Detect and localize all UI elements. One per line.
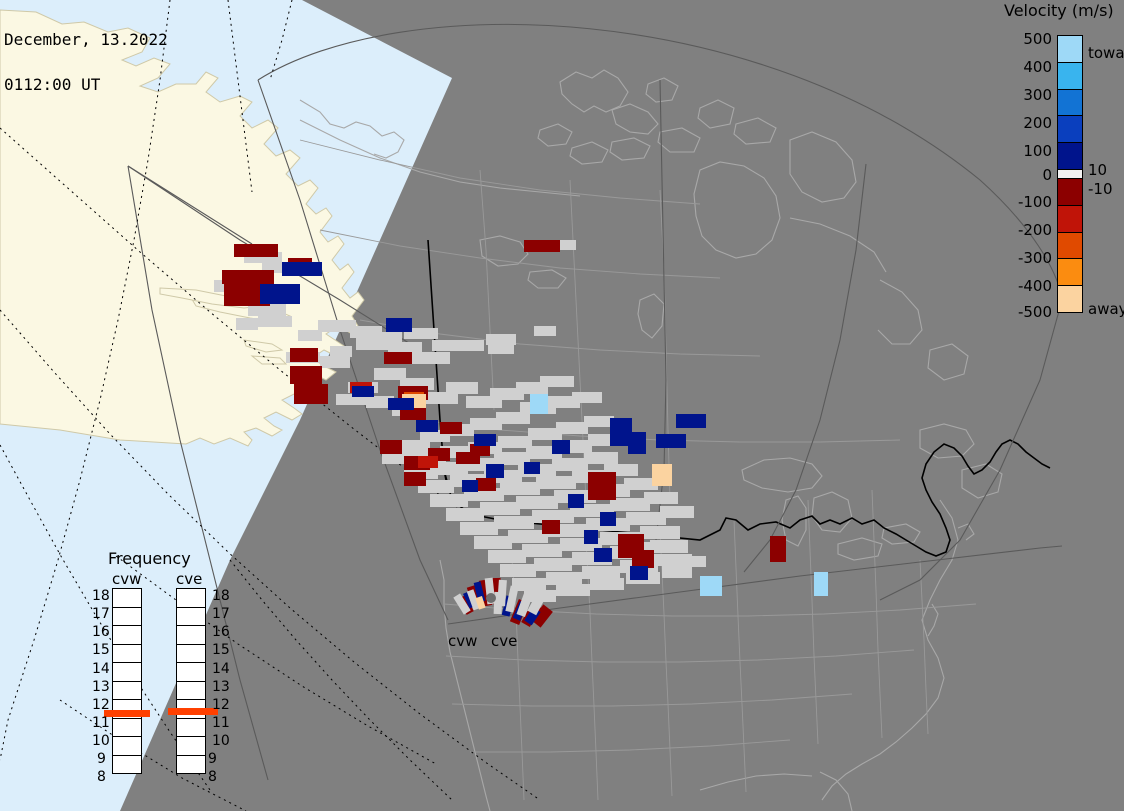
frequency-scale-label: 18 bbox=[92, 588, 110, 604]
colorbar-tick: 200 bbox=[996, 114, 1052, 132]
frequency-cell bbox=[177, 682, 205, 701]
frequency-marker-cvw bbox=[104, 710, 150, 717]
frequency-scale-label: 15 bbox=[212, 642, 230, 658]
colorbar-segment bbox=[1058, 36, 1082, 63]
velocity-cells-layer bbox=[0, 0, 1124, 811]
frequency-marker-cve bbox=[168, 708, 218, 715]
frequency-cell bbox=[177, 719, 205, 738]
colorbar-positive-threshold-label: 10 bbox=[1088, 161, 1107, 179]
colorbar-tick: 100 bbox=[996, 142, 1052, 160]
frequency-scale-label: 8 bbox=[208, 769, 217, 785]
frequency-cell bbox=[177, 589, 205, 608]
frequency-bar-header-cve: cve bbox=[176, 570, 202, 588]
colorbar-tick: 400 bbox=[996, 58, 1052, 76]
frequency-scale-label: 11 bbox=[92, 715, 110, 731]
frequency-cell bbox=[113, 608, 141, 627]
colorbar-segment bbox=[1058, 179, 1082, 206]
colorbar-segment bbox=[1058, 143, 1082, 170]
frequency-cell bbox=[177, 645, 205, 664]
frequency-cell bbox=[113, 756, 141, 774]
frequency-scale-label: 16 bbox=[92, 624, 110, 640]
frequency-scale-label: 11 bbox=[212, 715, 230, 731]
velocity-colorbar bbox=[1057, 35, 1083, 313]
colorbar-segment bbox=[1058, 63, 1082, 90]
frequency-cell bbox=[113, 663, 141, 682]
colorbar-segment-zero bbox=[1058, 170, 1082, 179]
frequency-scale-label: 13 bbox=[92, 679, 110, 695]
colorbar-tick: -200 bbox=[996, 221, 1052, 239]
frequency-cell bbox=[177, 626, 205, 645]
frequency-cell bbox=[177, 756, 205, 774]
colorbar-segment bbox=[1058, 116, 1082, 143]
timestamp-date: December, 13.2022 bbox=[4, 32, 168, 47]
frequency-scale-label: 9 bbox=[97, 751, 106, 767]
colorbar-tick: 500 bbox=[996, 30, 1052, 48]
frequency-cell bbox=[113, 645, 141, 664]
frequency-legend-title: Frequency bbox=[108, 549, 191, 568]
frequency-cell bbox=[177, 608, 205, 627]
colorbar-tick: -100 bbox=[996, 193, 1052, 211]
colorbar-away-label: away bbox=[1088, 300, 1124, 318]
colorbar-tick: 300 bbox=[996, 86, 1052, 104]
frequency-scale-label: 15 bbox=[92, 642, 110, 658]
frequency-scale-label: 17 bbox=[92, 606, 110, 622]
colorbar-tick: -400 bbox=[996, 277, 1052, 295]
timestamp-time: 0112:00 UT bbox=[4, 77, 168, 92]
frequency-cell bbox=[113, 589, 141, 608]
frequency-scale-label: 16 bbox=[212, 624, 230, 640]
colorbar-title: Velocity (m/s) bbox=[1004, 1, 1114, 20]
frequency-scale-label: 17 bbox=[212, 606, 230, 622]
colorbar-tick: 0 bbox=[996, 166, 1052, 184]
colorbar-segment bbox=[1058, 90, 1082, 117]
colorbar-toward-label: toward bbox=[1088, 44, 1124, 62]
frequency-scale-label: 14 bbox=[92, 661, 110, 677]
site-label-cvw: cvw bbox=[448, 632, 477, 650]
colorbar-tick: -300 bbox=[996, 249, 1052, 267]
frequency-scale-label: 8 bbox=[97, 769, 106, 785]
frequency-cell bbox=[177, 737, 205, 756]
colorbar-segment bbox=[1058, 233, 1082, 260]
colorbar-segment bbox=[1058, 286, 1082, 312]
frequency-cell bbox=[113, 626, 141, 645]
site-label-cve: cve bbox=[491, 632, 517, 650]
frequency-scale-label: 9 bbox=[208, 751, 217, 767]
frequency-scale-label: 10 bbox=[92, 733, 110, 749]
colorbar-negative-threshold-label: -10 bbox=[1088, 180, 1113, 198]
frequency-bar-header-cvw: cvw bbox=[112, 570, 141, 588]
frequency-cell bbox=[113, 737, 141, 756]
frequency-cell bbox=[113, 682, 141, 701]
frequency-scale-label: 14 bbox=[212, 661, 230, 677]
frequency-bar-cvw bbox=[112, 588, 142, 774]
radar-site-marker bbox=[486, 593, 496, 603]
frequency-scale-label: 13 bbox=[212, 679, 230, 695]
radar-map-figure: December, 13.2022 0112:00 UT Velocity (m… bbox=[0, 0, 1124, 811]
frequency-cell bbox=[177, 663, 205, 682]
frequency-scale-label: 18 bbox=[212, 588, 230, 604]
colorbar-tick: -500 bbox=[996, 303, 1052, 321]
frequency-cell bbox=[113, 719, 141, 738]
colorbar-segment bbox=[1058, 206, 1082, 233]
frequency-scale-label: 10 bbox=[212, 733, 230, 749]
colorbar-segment bbox=[1058, 259, 1082, 286]
frequency-scale-label: 12 bbox=[212, 697, 230, 713]
timestamp: December, 13.2022 0112:00 UT bbox=[4, 2, 168, 122]
frequency-scale-label: 12 bbox=[92, 697, 110, 713]
frequency-bar-cve bbox=[176, 588, 206, 774]
